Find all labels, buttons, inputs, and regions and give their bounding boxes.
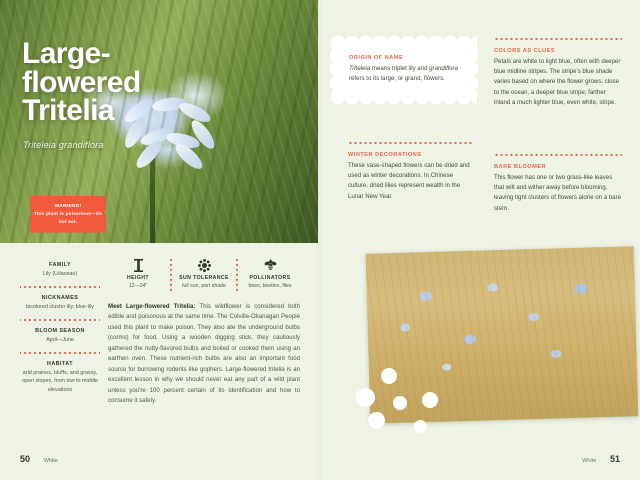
sun-icon (178, 258, 230, 272)
stat-value: full sun, part shade (178, 283, 230, 291)
stat-label: SUN TOLERANCE (178, 275, 230, 281)
fact-label-nicknames: NICKNAMES (20, 295, 100, 301)
genus-name: Triteleia (349, 65, 370, 72)
fact-label-bloom-season: BLOOM SEASON (20, 328, 100, 334)
stat-height: HEIGHT 12—24" (108, 258, 168, 291)
page-title: Large- flowered Tritelia (22, 40, 141, 126)
fact-label-habitat: HABITAT (20, 361, 100, 367)
callout-title: WINTER DECORATIONS (348, 152, 474, 158)
fact-value-family: Lily (Liliaceae) (20, 270, 100, 278)
decorative-dot (414, 420, 427, 433)
ruler-icon (112, 258, 164, 272)
stat-pollinators: POLLINATORS bees, beetles, flies (240, 258, 300, 291)
dotted-divider (494, 152, 622, 158)
dotted-divider (20, 284, 100, 290)
callout-title: COLORS AS CLUES (494, 48, 622, 54)
left-page: Large- flowered Tritelia Triteleia grand… (0, 0, 318, 480)
page-number: 50 (20, 454, 30, 464)
fact-label-family: FAMILY (20, 262, 100, 268)
stat-label: HEIGHT (112, 275, 164, 281)
fact-value-habitat: arid prairies, bluffs, and grassy, open … (20, 369, 100, 393)
callout-colors-as-clues: COLORS AS CLUES Petals are white to ligh… (494, 36, 622, 108)
stat-row: HEIGHT 12—24" SUN TOLERANCE full sun, pa… (108, 258, 300, 291)
dotted-divider (348, 140, 474, 146)
footer-left: 50 White (20, 454, 58, 464)
fact-list: FAMILY Lily (Liliaceae) NICKNAMES bicolo… (20, 262, 100, 394)
stat-sun-tolerance: SUN TOLERANCE full sun, part shade (174, 258, 234, 291)
footer-right: White 51 (582, 454, 620, 464)
title-line-1: Large- (22, 40, 141, 69)
meadow-photo-container (356, 240, 640, 436)
body-paragraph: Meet Large-flowered Tritelia: This wildf… (108, 302, 300, 407)
fact-value-bloom-season: April—June (20, 336, 100, 344)
decorative-dot (393, 396, 407, 410)
callout-body: This flower has one or two grass-like le… (494, 173, 622, 214)
stat-label: POLLINATORS (244, 275, 296, 281)
fact-value-nicknames: bicolored cluster lily, blue-lily (20, 303, 100, 311)
stat-value: bees, beetles, flies (244, 283, 296, 291)
flower-stem (150, 150, 155, 243)
callout-bare-bloomer: BARE BLOOMER This flower has one or two … (494, 152, 622, 214)
dotted-divider (20, 350, 100, 356)
body-lead-in: Meet Large-flowered Tritelia: (108, 303, 195, 310)
page-number: 51 (610, 454, 620, 464)
callout-title: BARE BLOOMER (494, 164, 622, 170)
decorative-dot (356, 388, 375, 407)
callout-body: Petals are white to light blue, often wi… (494, 57, 622, 108)
dotted-divider (494, 36, 622, 42)
warning-title: WARNING! (34, 203, 102, 210)
cloud-card: ORIGIN OF NAME Triteleia means triplet l… (336, 42, 472, 98)
meadow-photo (366, 246, 639, 423)
dotted-divider (20, 317, 100, 323)
callout-title: ORIGIN OF NAME (349, 55, 459, 61)
bee-icon (244, 258, 296, 272)
callout-body: Triteleia means triplet lily and grandif… (349, 64, 459, 84)
section-label: White (44, 458, 58, 464)
right-page: ORIGIN OF NAME Triteleia means triplet l… (322, 0, 640, 480)
decorative-dot (381, 368, 397, 384)
title-line-2: flowered (22, 69, 141, 98)
stat-value: 12—24" (112, 283, 164, 291)
species-name: grandiflora (429, 65, 458, 72)
callout-origin-of-name: ORIGIN OF NAME Triteleia means triplet l… (336, 42, 472, 98)
callout-body: These vase-shaped flowers can be dried a… (348, 161, 474, 202)
decorative-dot (422, 392, 438, 408)
book-spread: Large- flowered Tritelia Triteleia grand… (0, 0, 640, 480)
title-line-3: Tritelia (22, 97, 141, 126)
section-label: White (582, 458, 596, 464)
callout-winter-decorations: WINTER DECORATIONS These vase-shaped flo… (348, 140, 474, 202)
warning-text: This plant is poisonous—do not eat. (34, 210, 102, 224)
warning-badge: WARNING! This plant is poisonous—do not … (30, 196, 106, 233)
scientific-name: Triteleia grandiflora (23, 140, 104, 150)
body-text: This wildflower is considered both edibl… (108, 303, 300, 404)
decorative-dot (368, 412, 385, 429)
